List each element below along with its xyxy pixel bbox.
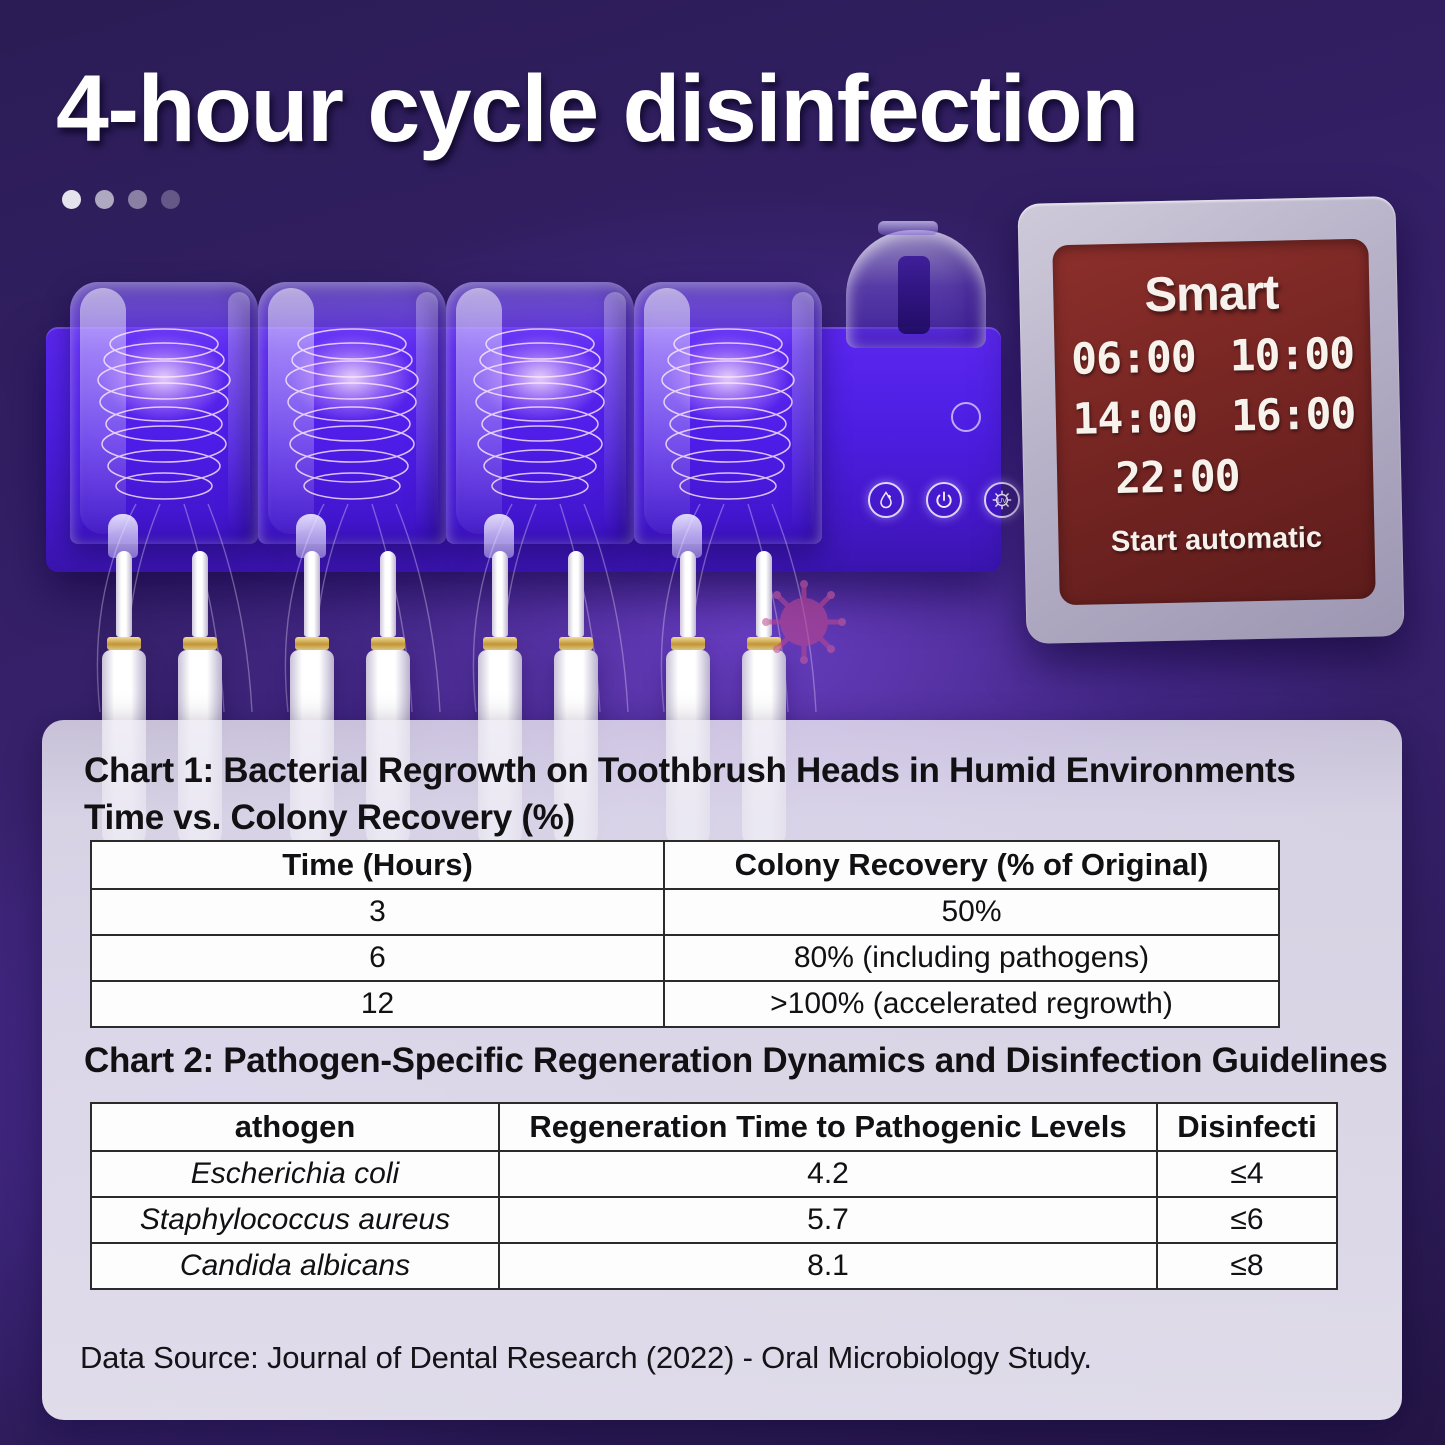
table-row: 6 80% (including pathogens) — [91, 935, 1279, 981]
schedule-row-3: 22:00 — [1057, 449, 1374, 506]
data-source-note: Data Source: Journal of Dental Research … — [80, 1340, 1092, 1376]
status-led-indicator — [951, 402, 981, 432]
uv-lamp-core — [898, 256, 930, 334]
data-card: Chart 1: Bacterial Regrowth on Toothbrus… — [42, 720, 1402, 1420]
chart1-title-line1: Chart 1: Bacterial Regrowth on Toothbrus… — [84, 751, 1296, 790]
schedule-time-3: 14:00 — [1072, 392, 1197, 445]
cell-pathogen: Staphylococcus aureus — [91, 1197, 499, 1243]
schedule-time-4: 16:00 — [1230, 389, 1355, 442]
cell-pathogen: Escherichia coli — [91, 1151, 499, 1197]
schedule-row-2: 14:00 16:00 — [1072, 389, 1356, 445]
table-row: Escherichia coli 4.2 ≤4 — [91, 1151, 1337, 1197]
schedule-row-1: 06:00 10:00 — [1071, 329, 1355, 385]
cell-disinfection: ≤6 — [1157, 1197, 1337, 1243]
schedule-time-2: 10:00 — [1229, 329, 1354, 382]
col-header-recovery: Colony Recovery (% of Original) — [664, 841, 1279, 889]
col-header-time: Time (Hours) — [91, 841, 664, 889]
table-row: 3 50% — [91, 889, 1279, 935]
uv-icon[interactable]: UV — [984, 482, 1020, 518]
cell-time: 6 — [91, 935, 664, 981]
virus-particle-icon — [760, 578, 848, 666]
table-header-row: Time (Hours) Colony Recovery (% of Origi… — [91, 841, 1279, 889]
cell-recovery: >100% (accelerated regrowth) — [664, 981, 1279, 1027]
table-row: Staphylococcus aureus 5.7 ≤6 — [91, 1197, 1337, 1243]
chart1-title-line2: Time vs. Colony Recovery (%) — [84, 798, 575, 837]
cell-regen-time: 4.2 — [499, 1151, 1157, 1197]
chart1-title: Chart 1: Bacterial Regrowth on Toothbrus… — [84, 748, 1374, 842]
chart1-table: Time (Hours) Colony Recovery (% of Origi… — [90, 840, 1280, 1028]
cell-disinfection: ≤8 — [1157, 1243, 1337, 1289]
cell-recovery: 50% — [664, 889, 1279, 935]
uv-swirl-icon-3 — [465, 316, 615, 506]
chart2-title: Chart 2: Pathogen-Specific Regeneration … — [84, 1038, 1414, 1085]
cell-pathogen: Candida albicans — [91, 1243, 499, 1289]
cell-time: 12 — [91, 981, 664, 1027]
smart-display-panel: Smart 06:00 10:00 14:00 16:00 22:00 Star… — [1017, 196, 1404, 644]
cell-regen-time: 8.1 — [499, 1243, 1157, 1289]
power-icon[interactable] — [926, 482, 962, 518]
cell-recovery: 80% (including pathogens) — [664, 935, 1279, 981]
table-row: 12 >100% (accelerated regrowth) — [91, 981, 1279, 1027]
device-control-buttons[interactable]: UV — [868, 482, 1020, 518]
carousel-dot-1[interactable] — [62, 190, 81, 209]
table-row: Candida albicans 8.1 ≤8 — [91, 1243, 1337, 1289]
schedule-time-5: 22:00 — [1115, 451, 1240, 504]
start-automatic-label: Start automatic — [1111, 522, 1323, 559]
cell-time: 3 — [91, 889, 664, 935]
col-header-regen-time: Regeneration Time to Pathogenic Levels — [499, 1103, 1157, 1151]
sanitize-droplet-icon[interactable] — [868, 482, 904, 518]
carousel-dot-3[interactable] — [128, 190, 147, 209]
cell-regen-time: 5.7 — [499, 1197, 1157, 1243]
table-header-row: athogen Regeneration Time to Pathogenic … — [91, 1103, 1337, 1151]
product-infographic: 4-hour cycle disinfection — [0, 0, 1445, 1445]
cell-disinfection: ≤4 — [1157, 1151, 1337, 1197]
col-header-pathogen: athogen — [91, 1103, 499, 1151]
lcd-screen: Smart 06:00 10:00 14:00 16:00 22:00 Star… — [1052, 239, 1375, 606]
page-title: 4-hour cycle disinfection — [56, 62, 1138, 157]
svg-text:UV: UV — [997, 498, 1007, 505]
chart2-table: athogen Regeneration Time to Pathogenic … — [90, 1102, 1338, 1290]
uv-swirl-icon-1 — [89, 316, 239, 506]
carousel-dots[interactable] — [62, 190, 180, 209]
carousel-dot-4[interactable] — [161, 190, 180, 209]
uv-swirl-icon-2 — [277, 316, 427, 506]
col-header-disinfection: Disinfecti — [1157, 1103, 1337, 1151]
carousel-dot-2[interactable] — [95, 190, 114, 209]
display-title: Smart — [1144, 265, 1279, 324]
uv-lamp-dome — [846, 230, 986, 348]
uv-swirl-icon-4 — [653, 316, 803, 506]
schedule-time-1: 06:00 — [1071, 332, 1196, 385]
